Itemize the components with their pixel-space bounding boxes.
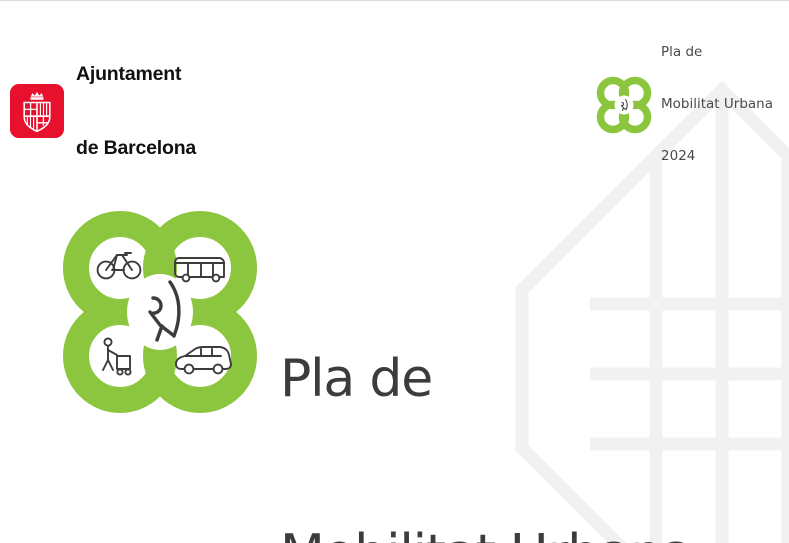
pmu-secondary-wordmark: Pla de Mobilitat Urbana 2024 <box>661 9 773 200</box>
pmu-small-line-1: Pla de <box>661 44 773 61</box>
bicycle-icon <box>98 253 141 278</box>
pedestrian-with-cart-icon <box>103 338 131 374</box>
car-icon <box>176 347 231 373</box>
pmu-secondary-lockup: Pla de Mobilitat Urbana 2024 <box>596 9 773 200</box>
barcelona-coat-of-arms-icon <box>10 84 64 138</box>
pmu-small-line-3: 2024 <box>661 148 773 165</box>
pmu-hero-title: Pla de Mobilitat Urbana 2024 <box>280 234 692 543</box>
ajuntament-line-2: de Barcelona <box>76 136 196 161</box>
top-divider <box>0 0 789 1</box>
pla-mobilitat-urbana-logo-icon <box>596 76 652 134</box>
ajuntament-line-1: Ajuntament <box>76 62 196 87</box>
pla-mobilitat-urbana-logo-large-icon <box>62 206 258 418</box>
title-slide: Ajuntament de Barcelona Pla de Mobilitat… <box>0 0 789 543</box>
pmu-hero-lockup: Pla de Mobilitat Urbana 2024 <box>62 206 692 543</box>
ajuntament-de-barcelona-lockup: Ajuntament de Barcelona <box>10 13 196 210</box>
bus-icon <box>175 258 224 281</box>
pmu-small-line-2: Mobilitat Urbana <box>661 96 773 113</box>
hero-title-line-2: Mobilitat Urbana <box>280 525 692 543</box>
hero-title-line-1: Pla de <box>280 350 692 408</box>
ajuntament-de-barcelona-wordmark: Ajuntament de Barcelona <box>76 13 196 210</box>
